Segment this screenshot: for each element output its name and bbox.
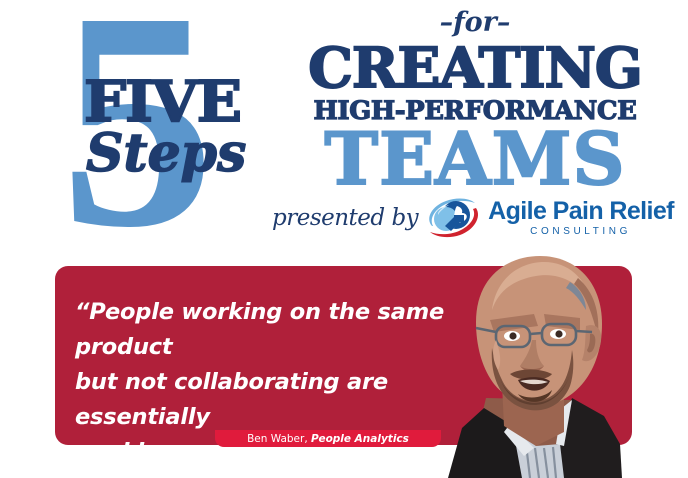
for-label: –for–: [270, 8, 680, 38]
title-stack: –for– CREATING HIGH-PERFORMANCE TEAMS: [270, 8, 680, 192]
globe-swoosh-icon: [424, 195, 482, 241]
agile-pain-relief-logotype: Agile Pain Relief CONSULTING: [488, 199, 674, 237]
logo-name: Agile Pain Relief: [488, 199, 674, 224]
five-wordmark: FIVE: [84, 74, 241, 130]
teams-heading: TEAMS: [270, 126, 680, 192]
attribution-source: People Analytics: [311, 433, 409, 445]
title-header: 5 FIVE Steps –for– CREATING HIGH-PERFORM…: [0, 0, 688, 250]
quote-line-1: “People working on the same product: [75, 295, 475, 365]
creating-heading: CREATING: [266, 40, 684, 96]
quote-line-2: but not collaborating are essentially: [75, 365, 475, 435]
ben-waber-portrait: [440, 248, 650, 478]
attribution-text: Ben Waber, People Analytics: [247, 433, 409, 445]
high-performance-heading: HIGH-PERFORMANCE: [264, 97, 686, 124]
quote-attribution-tab: Ben Waber, People Analytics: [215, 430, 441, 447]
presented-by-row: presented by: [272, 192, 684, 244]
logo-subtitle: CONSULTING: [530, 227, 631, 237]
steps-wordmark: Steps: [86, 128, 246, 180]
infographic-header-slide: 5 FIVE Steps –for– CREATING HIGH-PERFORM…: [0, 0, 688, 478]
attribution-name: Ben Waber,: [247, 433, 308, 445]
presented-by-label: presented by: [272, 205, 418, 231]
